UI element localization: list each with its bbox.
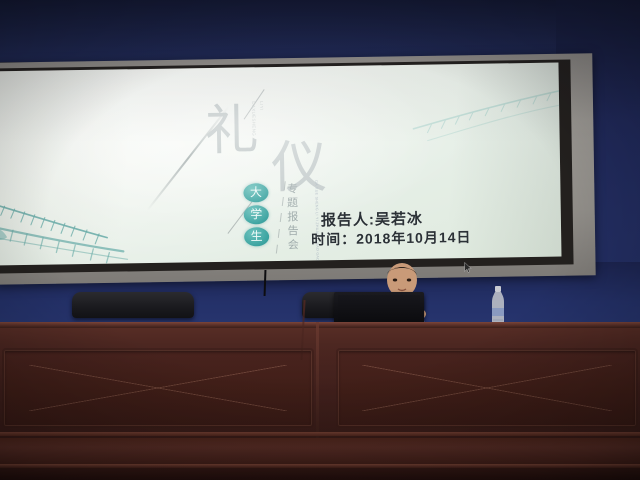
title-tiny-pinyin-1: DAXUESHENG — [250, 101, 257, 136]
diamond-carving-right-lower — [362, 365, 612, 411]
pill-daxuesheng-3: 生 — [244, 227, 269, 246]
diamond-carving-left-lower — [29, 365, 288, 411]
lecture-hall-photo: 礼 仪 DAXUESHENG LIYI 大 学 生 专题报告会 DA XUE S… — [0, 0, 640, 480]
title-character-yi: 仪 — [271, 140, 328, 197]
wall-upper — [0, 0, 640, 62]
podium-panel-right — [338, 350, 636, 426]
podium-panel-left — [4, 350, 312, 426]
podium-molding-4 — [0, 468, 640, 480]
title-tiny-pinyin-2: LIYI — [258, 101, 264, 111]
vertical-subtitle: 专题报告会 — [283, 183, 299, 253]
pill-daxuesheng-2: 学 — [244, 205, 269, 224]
mouse-cursor-icon — [464, 262, 472, 273]
ink-branch-topright-decoration — [405, 76, 562, 151]
date-line: 时间：2018年10月14日 — [311, 227, 541, 250]
chair-left — [72, 292, 194, 318]
projected-slide: 礼 仪 DAXUESHENG LIYI 大 学 生 专题报告会 DA XUE S… — [0, 63, 561, 266]
podium-top-edge — [0, 322, 640, 328]
podium-molding-1 — [0, 432, 640, 436]
slide-meta-block: 报告人:吴若冰 时间：2018年10月14日 — [311, 208, 542, 250]
pill-daxuesheng-1: 大 — [243, 183, 268, 202]
ink-branch-left-decoration — [0, 175, 148, 265]
podium-molding-2 — [0, 438, 640, 464]
